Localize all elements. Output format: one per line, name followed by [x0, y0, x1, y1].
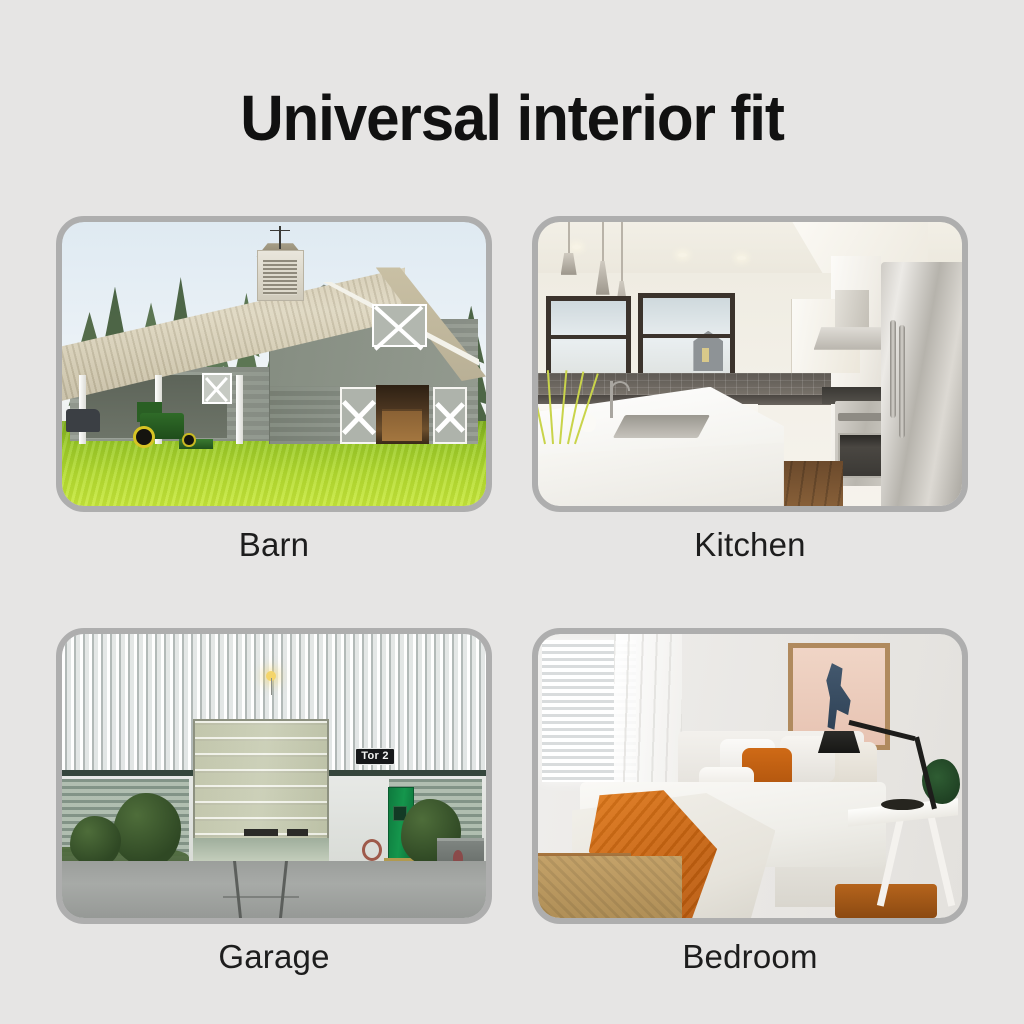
garage-photo: Tor 2: [62, 634, 486, 918]
parked-vehicle: [66, 409, 100, 432]
kitchen-window-left: [546, 296, 631, 381]
stainless-refrigerator: [881, 262, 962, 506]
pendant-light: [568, 222, 570, 259]
recessed-light-icon: [572, 245, 581, 249]
range-hood: [814, 327, 890, 350]
shrub: [70, 816, 121, 867]
weathervane-icon: [279, 226, 281, 249]
neighbouring-house: [693, 331, 723, 372]
task-lamp-shade: [818, 731, 860, 754]
concrete-apron: [62, 861, 486, 918]
door-decal-right: [287, 829, 308, 836]
decor-tray: [881, 799, 923, 810]
bedroom-photo: [538, 634, 962, 918]
door-decal-left: [244, 829, 278, 836]
barn-sliding-door-right: [433, 387, 467, 444]
lean-to-post: [236, 375, 243, 443]
faucet: [610, 381, 613, 418]
undermount-sink: [613, 415, 710, 438]
rail-tie: [223, 896, 299, 898]
image-card-garage[interactable]: Tor 2: [56, 628, 492, 924]
image-card-kitchen[interactable]: [532, 216, 968, 512]
barn-door-opening: [376, 385, 429, 443]
tractor-rear-wheel: [133, 426, 155, 449]
plant-stems: [540, 370, 578, 444]
caption-kitchen: Kitchen: [532, 526, 968, 564]
artwork-figure: [821, 663, 852, 730]
pendant-light: [621, 222, 623, 299]
caption-barn: Barn: [56, 526, 492, 564]
cupola: [257, 250, 304, 300]
gate-number-sign: Tor 2: [355, 748, 395, 765]
barn-sliding-door-left: [340, 387, 378, 444]
page-title: Universal interior fit: [31, 86, 994, 150]
grid-cell-bedroom: Bedroom: [532, 628, 968, 976]
pendant-light: [602, 222, 604, 279]
overhead-door-bottom-panel: [193, 838, 329, 861]
fridge-handle: [899, 325, 905, 437]
caption-bedroom: Bedroom: [532, 938, 968, 976]
image-card-barn[interactable]: [56, 216, 492, 512]
green-tractor: [121, 404, 206, 449]
image-card-bedroom[interactable]: [532, 628, 968, 924]
caption-garage: Garage: [56, 938, 492, 976]
barn-small-window: [202, 373, 232, 404]
grid-cell-garage: Tor 2 Garage: [56, 628, 492, 976]
hayloft-door: [372, 304, 427, 347]
kitchen-window-right: [638, 293, 736, 381]
lamp-conduit: [271, 678, 273, 695]
range-hood-flue: [835, 290, 869, 330]
grid-cell-kitchen: Kitchen: [532, 216, 968, 564]
jute-rug: [538, 856, 682, 918]
shrub: [113, 793, 181, 867]
image-grid: Barn: [56, 216, 968, 976]
fridge-handle: [890, 320, 896, 418]
barn-photo: [62, 222, 486, 506]
grid-cell-barn: Barn: [56, 216, 492, 564]
kitchen-photo: [538, 222, 962, 506]
